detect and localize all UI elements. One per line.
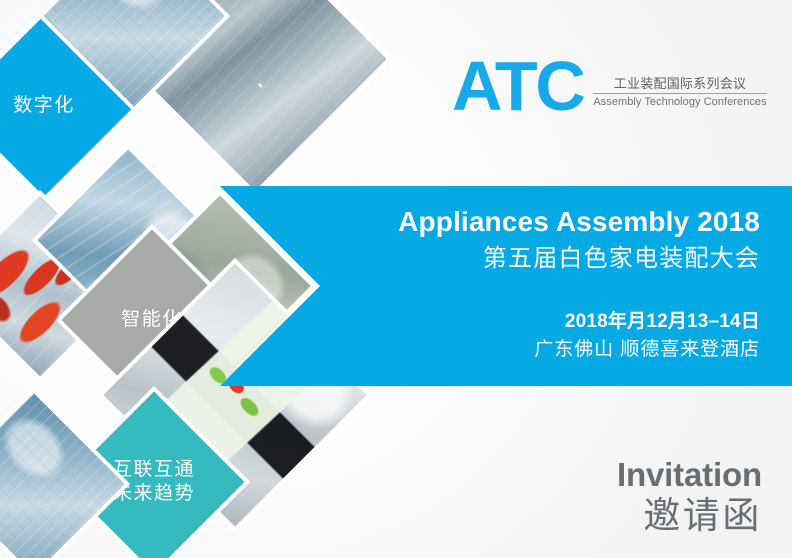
tile-label-connectivity-line2: 未来趋势 bbox=[113, 482, 195, 506]
event-title-block: Appliances Assembly 2018 第五届白色家电装配大会 bbox=[290, 205, 760, 273]
atc-wordmark: ATC bbox=[452, 58, 583, 115]
atc-subtitle-cn: 工业装配国际系列会议 bbox=[593, 76, 766, 95]
invitation-label-en: Invitation bbox=[617, 457, 762, 493]
invitation-label: Invitation 邀请函 bbox=[617, 457, 762, 536]
invitation-label-cn: 邀请函 bbox=[617, 495, 762, 536]
event-title-cn: 第五届白色家电装配大会 bbox=[290, 244, 760, 273]
event-date: 2018年月12月13–14日 bbox=[290, 308, 760, 336]
event-title-en: Appliances Assembly 2018 bbox=[290, 205, 760, 238]
circuit-photo-lower-image bbox=[0, 393, 125, 558]
event-meta-block: 2018年月12月13–14日 广东佛山 顺德喜来登酒店 bbox=[290, 308, 760, 364]
tile-label-connectivity-line1: 互联互通 bbox=[113, 458, 195, 482]
atc-logo: ATC 工业装配国际系列会议 Assembly Technology Confe… bbox=[452, 58, 767, 115]
atc-logo-subtitle: 工业装配国际系列会议 Assembly Technology Conferenc… bbox=[593, 76, 766, 116]
event-venue: 广东佛山 顺德喜来登酒店 bbox=[290, 336, 760, 365]
invitation-poster: 数字化 智能化 互联互通 未来趋势 bbox=[0, 0, 792, 558]
mosaic-tile-circuit-photo-lower bbox=[0, 393, 125, 558]
atc-subtitle-en: Assembly Technology Conferences bbox=[593, 94, 766, 109]
